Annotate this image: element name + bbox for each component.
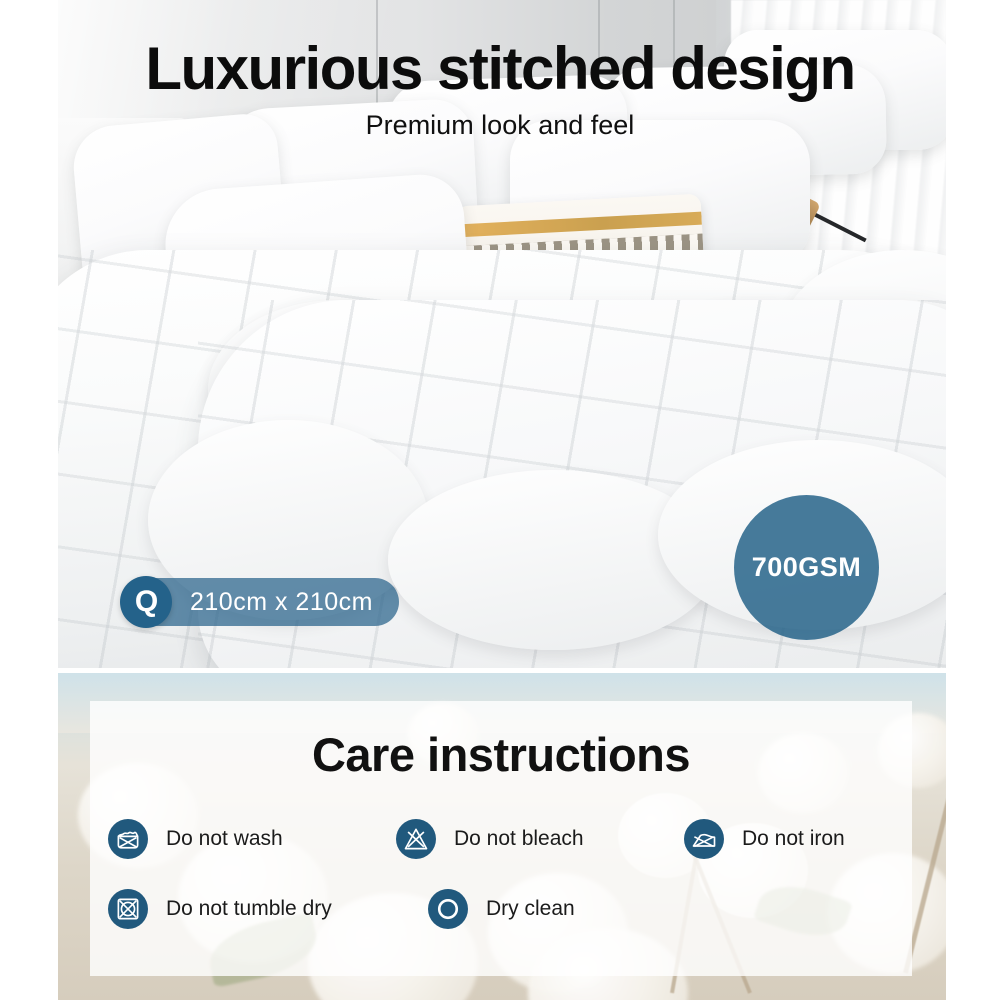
care-item-do-not-tumble-dry: Do not tumble dry — [108, 889, 428, 929]
care-card: Care instructions Do not wash — [90, 701, 912, 976]
care-label: Do not bleach — [454, 827, 584, 851]
gsm-label: 700GSM — [752, 552, 862, 583]
care-title: Care instructions — [90, 727, 912, 782]
care-item-dry-clean: Dry clean — [428, 889, 728, 929]
gsm-badge: 700GSM — [734, 495, 879, 640]
page-title: Luxurious stitched design — [0, 34, 1000, 103]
product-infographic: Q 210cm x 210cm 700GSM Luxurious stitche… — [0, 0, 1000, 1000]
dry-clean-icon — [428, 889, 468, 929]
do-not-wash-icon — [108, 819, 148, 859]
care-row: Do not wash Do not bleach — [108, 819, 898, 859]
care-grid: Do not wash Do not bleach — [108, 819, 898, 929]
care-row: Do not tumble dry Dry clean — [108, 889, 898, 929]
care-item-do-not-bleach: Do not bleach — [396, 819, 684, 859]
size-dimensions-label: 210cm x 210cm — [190, 588, 373, 617]
care-label: Do not tumble dry — [166, 897, 332, 921]
care-item-do-not-wash: Do not wash — [108, 819, 396, 859]
care-label: Do not iron — [742, 827, 845, 851]
size-badge: Q 210cm x 210cm — [124, 578, 399, 626]
care-instructions-panel: Care instructions Do not wash — [58, 673, 946, 1000]
care-label: Do not wash — [166, 827, 283, 851]
care-item-do-not-iron: Do not iron — [684, 819, 898, 859]
do-not-iron-icon — [684, 819, 724, 859]
size-letter-icon: Q — [120, 576, 172, 628]
do-not-tumble-dry-icon — [108, 889, 148, 929]
do-not-bleach-icon — [396, 819, 436, 859]
page-subtitle: Premium look and feel — [0, 110, 1000, 141]
care-label: Dry clean — [486, 897, 575, 921]
